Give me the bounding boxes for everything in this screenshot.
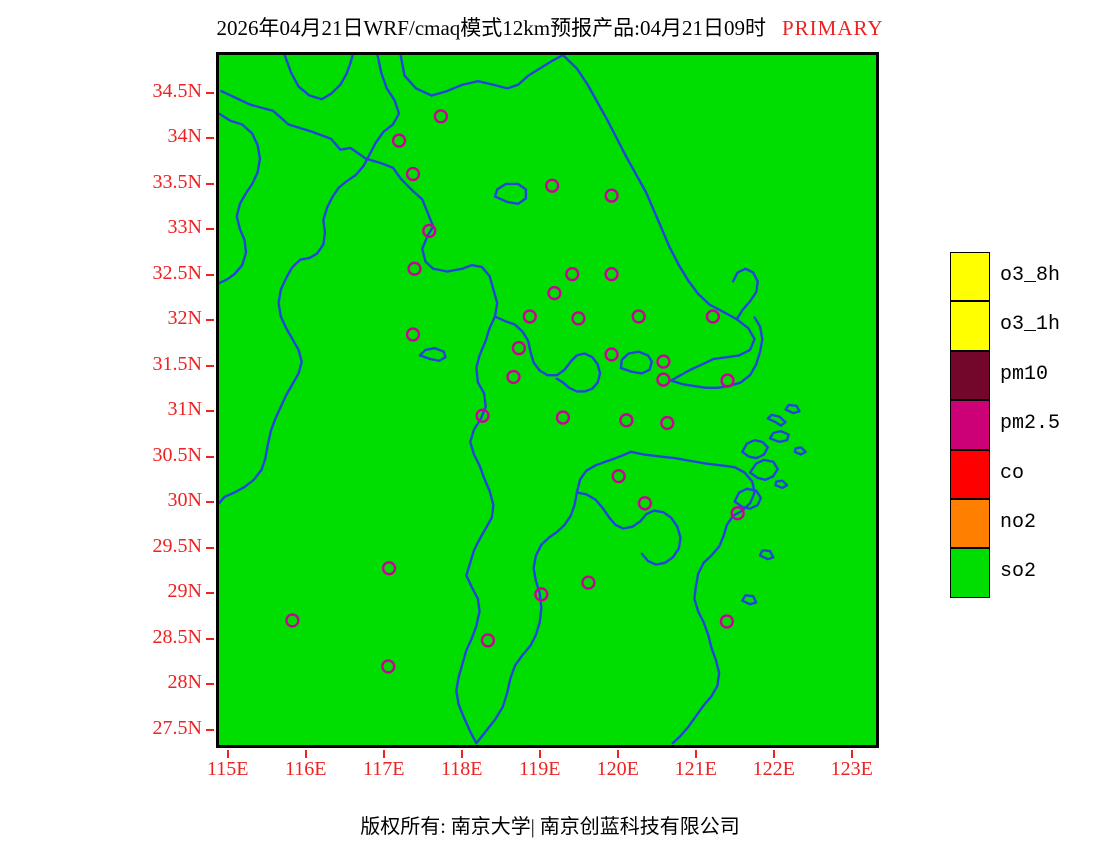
latitude-tick bbox=[206, 592, 214, 594]
latitude-tick-label: 31.5N bbox=[153, 353, 202, 376]
longitude-tick-label: 121E bbox=[656, 758, 736, 781]
legend-label: so2 bbox=[1000, 560, 1036, 583]
legend-color-swatch bbox=[950, 499, 990, 548]
latitude-tick bbox=[206, 729, 214, 731]
legend-label: o3_8h bbox=[1000, 264, 1060, 287]
legend-item-pm10[interactable]: pm10 bbox=[950, 351, 1100, 400]
latitude-tick-label: 33N bbox=[168, 216, 202, 239]
longitude-tick-label: 116E bbox=[266, 758, 346, 781]
legend-label: pm2.5 bbox=[1000, 412, 1060, 435]
longitude-tick-label: 123E bbox=[812, 758, 892, 781]
latitude-tick bbox=[206, 547, 214, 549]
map-canvas bbox=[219, 55, 876, 745]
longitude-tick bbox=[461, 750, 463, 758]
legend-item-no2[interactable]: no2 bbox=[950, 499, 1100, 548]
latitude-tick bbox=[206, 228, 214, 230]
latitude-tick-label: 30.5N bbox=[153, 444, 202, 467]
legend-color-swatch bbox=[950, 450, 990, 499]
longitude-tick-label: 120E bbox=[578, 758, 658, 781]
latitude-tick-label: 34.5N bbox=[153, 80, 202, 103]
longitude-tick-label: 115E bbox=[188, 758, 268, 781]
latitude-tick bbox=[206, 638, 214, 640]
latitude-tick-label: 32N bbox=[168, 307, 202, 330]
latitude-tick-label: 30N bbox=[168, 489, 202, 512]
latitude-tick bbox=[206, 456, 214, 458]
legend-item-pm2-5[interactable]: pm2.5 bbox=[950, 400, 1100, 449]
latitude-tick bbox=[206, 365, 214, 367]
pollutant-legend[interactable]: o3_8ho3_1hpm10pm2.5cono2so2 bbox=[950, 252, 1100, 598]
longitude-tick-label: 119E bbox=[500, 758, 580, 781]
latitude-tick-label: 32.5N bbox=[153, 262, 202, 285]
latitude-tick-label: 33.5N bbox=[153, 171, 202, 194]
longitude-tick bbox=[851, 750, 853, 758]
latitude-tick-label: 28N bbox=[168, 671, 202, 694]
longitude-tick bbox=[773, 750, 775, 758]
longitude-tick bbox=[539, 750, 541, 758]
latitude-tick bbox=[206, 183, 214, 185]
latitude-tick-label: 29.5N bbox=[153, 535, 202, 558]
legend-item-so2[interactable]: so2 bbox=[950, 548, 1100, 597]
legend-label: no2 bbox=[1000, 511, 1036, 534]
longitude-tick-label: 117E bbox=[344, 758, 424, 781]
legend-color-swatch bbox=[950, 301, 990, 350]
legend-item-o3-8h[interactable]: o3_8h bbox=[950, 252, 1100, 301]
longitude-tick bbox=[305, 750, 307, 758]
latitude-tick bbox=[206, 92, 214, 94]
longitude-tick bbox=[617, 750, 619, 758]
legend-label: pm10 bbox=[1000, 363, 1048, 386]
legend-color-swatch bbox=[950, 548, 990, 597]
map-plot-area[interactable] bbox=[216, 52, 879, 748]
legend-color-swatch bbox=[950, 351, 990, 400]
latitude-tick bbox=[206, 410, 214, 412]
longitude-tick-label: 118E bbox=[422, 758, 502, 781]
latitude-tick bbox=[206, 501, 214, 503]
longitude-tick-label: 122E bbox=[734, 758, 814, 781]
copyright-footer: 版权所有: 南京大学| 南京创蓝科技有限公司 bbox=[0, 810, 1100, 839]
longitude-tick bbox=[227, 750, 229, 758]
legend-item-co[interactable]: co bbox=[950, 450, 1100, 499]
legend-color-swatch bbox=[950, 252, 990, 301]
title-main-text: 2026年04月21日WRF/cmaq模式12km预报产品:04月21日09时 bbox=[216, 16, 766, 40]
title-primary-tag: PRIMARY bbox=[782, 16, 884, 40]
latitude-tick bbox=[206, 683, 214, 685]
longitude-tick bbox=[383, 750, 385, 758]
latitude-tick-label: 28.5N bbox=[153, 626, 202, 649]
latitude-tick-label: 34N bbox=[168, 125, 202, 148]
legend-item-o3-1h[interactable]: o3_1h bbox=[950, 301, 1100, 350]
legend-label: co bbox=[1000, 462, 1024, 485]
latitude-tick-label: 31N bbox=[168, 398, 202, 421]
latitude-tick-label: 29N bbox=[168, 580, 202, 603]
longitude-tick bbox=[695, 750, 697, 758]
map-background bbox=[219, 55, 876, 745]
latitude-tick bbox=[206, 274, 214, 276]
latitude-tick-label: 27.5N bbox=[153, 717, 202, 740]
legend-color-swatch bbox=[950, 400, 990, 449]
latitude-tick bbox=[206, 137, 214, 139]
chart-title: 2026年04月21日WRF/cmaq模式12km预报产品:04月21日09时P… bbox=[0, 12, 1100, 42]
legend-label: o3_1h bbox=[1000, 313, 1060, 336]
latitude-tick bbox=[206, 319, 214, 321]
